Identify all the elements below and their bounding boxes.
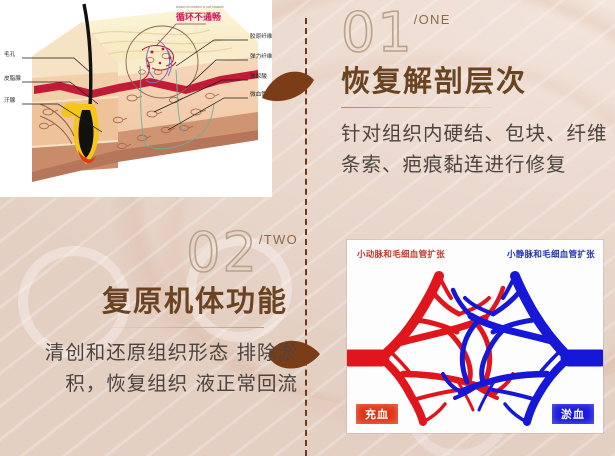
- skin-alert-text: 循环不通畅: [176, 11, 221, 23]
- skin-label-right-1: 弹力纤维: [250, 52, 272, 60]
- vessel-badge-congestion: 充血: [356, 404, 398, 424]
- skin-label-right-0: 胶原纤维: [250, 32, 272, 40]
- skin-label-left-2: 汗腺: [4, 96, 16, 104]
- section-01-english: /ONE: [414, 12, 451, 27]
- section-02-body: 清创和还原组织形态 排除淤积，恢复组织 液正常回流: [8, 328, 298, 400]
- section-02-number-row: 02 /TWO: [8, 228, 298, 278]
- skin-anatomy-image: 毛孔 皮脂腺 汗腺 胶原纤维 弹力纤维 玻尿酸 微血管 blood circul…: [0, 0, 272, 197]
- section-02: 02 /TWO 复原机体功能 清创和还原组织形态 排除淤积，恢复组织 液正常回流: [8, 228, 298, 400]
- section-02-english: /TWO: [259, 232, 298, 247]
- divider-drop-top: [258, 62, 324, 106]
- vessel-badge-stasis: 淤血: [552, 404, 594, 424]
- section-01-number: 01: [341, 8, 414, 58]
- section-02-number: 02: [186, 228, 259, 278]
- skin-label-left-1: 皮脂腺: [4, 74, 21, 82]
- skin-label-left-0: 毛孔: [4, 50, 16, 58]
- vessel-diagram-image: 小动脉和毛细血管扩张 小静脉和毛细血管扩张: [347, 240, 603, 433]
- section-01-number-row: 01 /ONE: [341, 8, 609, 58]
- section-02-title: 复原机体功能: [8, 278, 298, 320]
- skin-anatomy-svg: 毛孔 皮脂腺 汗腺 胶原纤维 弹力纤维 玻尿酸 微血管 blood circul…: [0, 0, 272, 197]
- section-01-body: 针对组织内硬结、包块、纤维条索、疤痕黏连进行修复: [341, 108, 609, 181]
- section-01-title: 恢复解剖层次: [341, 58, 609, 100]
- poster-canvas: 毛孔 皮脂腺 汗腺 胶原纤维 弹力纤维 玻尿酸 微血管 blood circul…: [0, 0, 615, 456]
- skin-alert-subtitle: blood circulation is not smooth: [176, 5, 224, 9]
- section-01: 01 /ONE 恢复解剖层次 针对组织内硬结、包块、纤维条索、疤痕黏连进行修复: [341, 8, 609, 181]
